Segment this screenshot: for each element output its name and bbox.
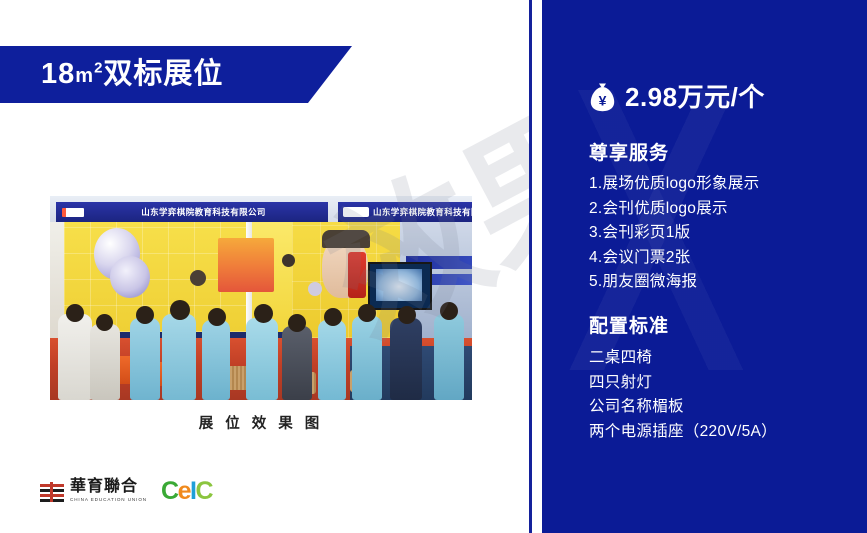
- photo-staff-5-head: [324, 308, 342, 326]
- photo-visitor-1: [58, 314, 92, 400]
- photo-monitor: [368, 262, 432, 310]
- page-title: 18m2双标展位: [41, 50, 223, 101]
- booth-photo: 山东学弈棋院教育科技有限公司 山东学弈棋院教育科技有限公司: [50, 196, 472, 400]
- list-item: 5.朋友圈微海报: [589, 270, 759, 295]
- ceic-logo: CeIC: [161, 479, 212, 504]
- photo-staff-7-head: [440, 302, 458, 320]
- svg-text:¥: ¥: [599, 92, 607, 108]
- configuration-list: 二桌四椅 四只射灯 公司名称楣板 两个电源插座（220V/5A）: [589, 346, 777, 444]
- photo-staff-5: [318, 320, 346, 400]
- photo-staff-4: [246, 318, 278, 400]
- brand-name-cn: 華育聯合: [70, 479, 147, 495]
- right-panel: ¥ 2.98万元/个 尊享服务 1.展场优质logo形象展示 2.会刊优质log…: [542, 0, 867, 533]
- photo-balloon-b: [110, 256, 150, 298]
- title-unit-superscript: 2: [94, 59, 103, 76]
- price-row: ¥ 2.98万元/个: [589, 82, 765, 112]
- services-list: 1.展场优质logo形象展示 2.会刊优质logo展示 3.会刊彩页1版 4.会…: [589, 172, 759, 295]
- panel-divider: [529, 0, 532, 533]
- ceic-letter-4: C: [195, 477, 212, 505]
- services-section-title: 尊享服务: [589, 138, 669, 165]
- photo-visitor-2: [90, 324, 120, 400]
- title-unit: m: [75, 65, 94, 87]
- photo-monitor-screen: [376, 269, 422, 301]
- fascia-left-company-name: 山东学弈棋院教育科技有限公司: [89, 206, 328, 218]
- photo-staff-3: [202, 320, 230, 400]
- photo-staff-1-head: [136, 306, 154, 324]
- hua-yu-lian-he-logo-icon: [40, 482, 64, 502]
- photo-visitor-2-head: [96, 314, 113, 331]
- photo-visitor-4-head: [398, 306, 416, 324]
- money-bag-icon: ¥: [589, 82, 616, 112]
- photo-caption: 展 位 效 果 图: [50, 412, 472, 433]
- photo-visitor-1-head: [66, 304, 84, 322]
- title-number: 18: [41, 58, 75, 90]
- photo-booth-poster: [218, 238, 274, 292]
- footer-logo-row: 華育聯合 CHINA EDUCATION UNION CeIC: [40, 479, 212, 504]
- list-item: 2.会刊优质logo展示: [589, 197, 759, 222]
- photo-staff-2: [162, 314, 196, 400]
- photo-visitor-3-head: [288, 314, 306, 332]
- list-item: 两个电源插座（220V/5A）: [589, 420, 777, 445]
- photo-decor-ball-c: [308, 282, 322, 296]
- photo-visitor-3: [282, 326, 312, 400]
- fascia-brand-icon: [62, 208, 84, 217]
- list-item: 二桌四椅: [589, 346, 777, 371]
- fascia-ceic-icon: [343, 207, 369, 217]
- list-item: 公司名称楣板: [589, 395, 777, 420]
- photo-decor-ball-b: [282, 254, 295, 267]
- list-item: 1.展场优质logo形象展示: [589, 172, 759, 197]
- photo-staff-2-head: [170, 300, 190, 320]
- ceic-letter-2: e: [178, 477, 190, 505]
- photo-staff-7: [434, 314, 464, 400]
- photo-staff-3-head: [208, 308, 226, 326]
- left-panel: 18m2双标展位: [0, 0, 530, 533]
- photo-staff-4-head: [254, 304, 273, 323]
- list-item: 四只射灯: [589, 371, 777, 396]
- price-amount: 2.98万元/个: [625, 82, 765, 112]
- list-item: 3.会刊彩页1版: [589, 221, 759, 246]
- title-label: 双标展位: [103, 58, 223, 90]
- configuration-section-title: 配置标准: [589, 311, 669, 338]
- booth-fascia-right: 山东学弈棋院教育科技有限公司: [338, 202, 472, 222]
- brand-name-en: CHINA EDUCATION UNION: [70, 496, 147, 504]
- photo-staff-1: [130, 318, 160, 400]
- photo-decor-ball-a: [190, 270, 206, 286]
- list-item: 4.会议门票2张: [589, 246, 759, 271]
- photo-visitor-4: [390, 318, 422, 400]
- fascia-right-company-name: 山东学弈棋院教育科技有限公司: [373, 206, 472, 218]
- ceic-letter-1: C: [161, 477, 178, 505]
- photo-mascot-scarf: [348, 252, 366, 298]
- booth-fascia-left: 山东学弈棋院教育科技有限公司: [56, 202, 328, 222]
- photo-mascot-hat: [322, 230, 370, 248]
- photo-staff-6-head: [358, 304, 376, 322]
- slide-root: 18m2双标展位: [0, 0, 867, 533]
- photo-staff-6: [352, 316, 382, 400]
